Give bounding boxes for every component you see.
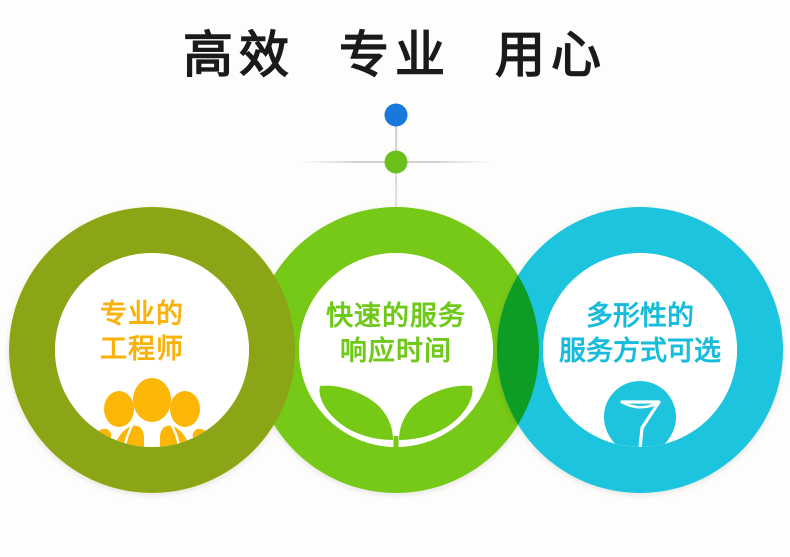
circle-engineer-label: 专业的 工程师 — [32, 298, 252, 367]
circle-service-label: 多形性的 服务方式可选 — [522, 300, 758, 369]
circle-service-line-1: 多形性的 — [522, 300, 758, 335]
circle-response-label: 快速的服务 响应时间 — [286, 300, 506, 369]
venn-rings-group — [0, 0, 790, 557]
infographic-canvas: 高效专业用心 — [0, 0, 790, 557]
circle-response-line-1: 快速的服务 — [286, 300, 506, 335]
circle-engineer-line-1: 专业的 — [32, 298, 252, 333]
circle-response-line-2: 响应时间 — [286, 335, 506, 370]
circle-service-line-2: 服务方式可选 — [522, 335, 758, 370]
circle-engineer-line-2: 工程师 — [32, 333, 252, 368]
